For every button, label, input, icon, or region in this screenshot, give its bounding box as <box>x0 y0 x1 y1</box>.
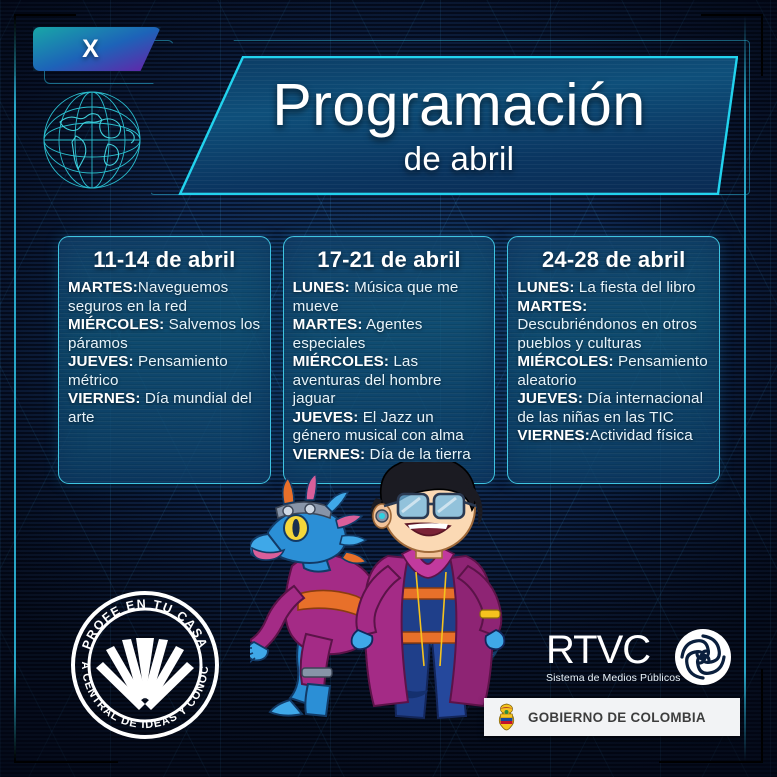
schedule-entry: VIERNES: Día de la tierra <box>293 446 486 465</box>
schedule-cards: 11-14 de abril MARTES:Naveguemos seguros… <box>58 236 720 484</box>
page-title: Programación <box>272 76 645 135</box>
boy-with-glasses-character <box>352 462 505 718</box>
entry-day: MIÉRCOLES: <box>68 316 164 333</box>
entry-desc: Actividad física <box>590 427 693 444</box>
entry-day: JUEVES: <box>68 353 134 370</box>
entry-day: MARTES: <box>293 316 363 333</box>
entry-desc: Descubriéndonos en otros pueblos y cultu… <box>517 316 697 352</box>
globe-wireframe-icon <box>36 84 148 196</box>
entry-day: MIÉRCOLES: <box>293 353 389 370</box>
entry-day: MARTES: <box>517 298 587 315</box>
schedule-entry: MIÉRCOLES: Salvemos los páramos <box>68 316 261 353</box>
schedule-entry: VIERNES: Día mundial del arte <box>68 390 261 427</box>
entry-day: LUNES: <box>293 279 350 296</box>
entry-day: JUEVES: <box>293 409 359 426</box>
schedule-entry: MIÉRCOLES: Las aventuras del hombre jagu… <box>293 353 486 409</box>
schedule-entry: JUEVES: Día internacional de las niñas e… <box>517 390 710 427</box>
entry-desc: Día de la tierra <box>365 446 471 463</box>
profe-en-tu-casa-logo: PROFE EN TU CASA AGENCIA CENTRAL DE IDEA… <box>66 586 224 744</box>
schedule-card[interactable]: 11-14 de abril MARTES:Naveguemos seguros… <box>58 236 271 484</box>
page-subtitle: de abril <box>404 142 515 175</box>
poster-canvas: X Programación de abril <box>0 0 777 777</box>
rtvc-swirl-icon <box>674 628 732 686</box>
rtvc-logo: RTVC Sistema de Medios Públicos <box>546 630 732 688</box>
schedule-entry: MIÉRCOLES: Pensamiento aleatorio <box>517 353 710 390</box>
schedule-entry: MARTES: Agentes especiales <box>293 316 486 353</box>
entry-day: JUEVES: <box>517 390 583 407</box>
card-body: LUNES: La fiesta del libro MARTES: Descu… <box>517 279 710 446</box>
card-body: MARTES:Naveguemos seguros en la red MIÉR… <box>68 279 261 427</box>
frame-rail-left <box>14 16 16 761</box>
government-bar: GOBIERNO DE COLOMBIA <box>484 698 740 736</box>
rtvc-text-block: RTVC Sistema de Medios Públicos <box>546 630 681 684</box>
channel-badge[interactable]: X <box>33 27 161 71</box>
colombia-coat-of-arms-icon <box>494 703 519 731</box>
characters-illustration <box>250 462 520 730</box>
entry-day: VIERNES: <box>517 427 590 444</box>
schedule-entry: JUEVES: El Jazz un género musical con al… <box>293 409 486 446</box>
government-label: GOBIERNO DE COLOMBIA <box>528 710 706 725</box>
card-body: LUNES: Música que me mueve MARTES: Agent… <box>293 279 486 464</box>
card-title: 24-28 de abril <box>517 247 710 273</box>
schedule-entry: VIERNES:Actividad física <box>517 427 710 446</box>
schedule-entry: MARTES:Naveguemos seguros en la red <box>68 279 261 316</box>
entry-day: VIERNES: <box>68 390 141 407</box>
card-title: 11-14 de abril <box>68 247 261 273</box>
channel-badge-label: X <box>82 35 100 64</box>
schedule-entry: LUNES: La fiesta del libro <box>517 279 710 298</box>
title-banner-body: Programación de abril <box>176 56 738 195</box>
entry-day: MARTES: <box>68 279 138 296</box>
schedule-card[interactable]: 24-28 de abril LUNES: La fiesta del libr… <box>507 236 720 484</box>
entry-day: LUNES: <box>517 279 574 296</box>
entry-desc: La fiesta del libro <box>574 279 695 296</box>
entry-day: VIERNES: <box>293 446 366 463</box>
rtvc-name: RTVC <box>546 630 681 670</box>
schedule-entry: MARTES: Descubriéndonos en otros pueblos… <box>517 298 710 354</box>
title-banner: Programación de abril <box>150 40 750 195</box>
rtvc-tagline: Sistema de Medios Públicos <box>546 673 681 684</box>
schedule-card[interactable]: 17-21 de abril LUNES: Música que me muev… <box>283 236 496 484</box>
schedule-entry: JUEVES: Pensamiento métrico <box>68 353 261 390</box>
entry-day: MIÉRCOLES: <box>517 353 613 370</box>
card-title: 17-21 de abril <box>293 247 486 273</box>
schedule-entry: LUNES: Música que me mueve <box>293 279 486 316</box>
